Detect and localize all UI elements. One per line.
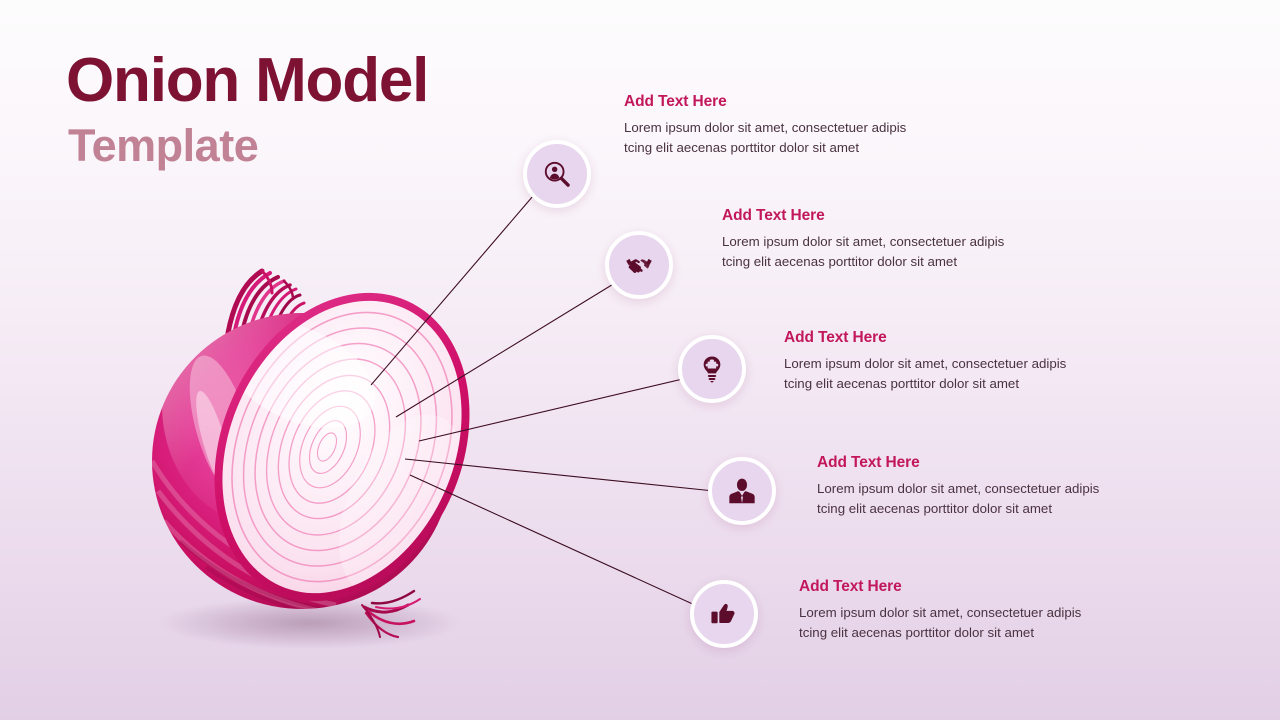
thumbs-up-icon	[709, 599, 739, 629]
item-body-line-1: Lorem ipsum dolor sit amet, consectetuer…	[784, 354, 1066, 374]
item-body-line-1: Lorem ipsum dolor sit amet, consectetuer…	[722, 232, 1004, 252]
item-heading: Add Text Here	[799, 578, 1081, 596]
badge-businessman[interactable]	[708, 457, 776, 525]
item-heading: Add Text Here	[722, 207, 1004, 225]
item-text-2: Add Text Here Lorem ipsum dolor sit amet…	[722, 207, 1004, 272]
onion-illustration	[150, 255, 500, 655]
badge-thumbs-up[interactable]	[690, 580, 758, 648]
user-search-icon	[542, 159, 572, 189]
item-heading: Add Text Here	[624, 93, 906, 111]
item-text-5: Add Text Here Lorem ipsum dolor sit amet…	[799, 578, 1081, 643]
item-body-line-2: tcing elit aecenas porttitor dolor sit a…	[722, 252, 1004, 272]
page-title: Onion Model	[66, 48, 428, 113]
item-text-4: Add Text Here Lorem ipsum dolor sit amet…	[817, 454, 1099, 519]
item-body-line-2: tcing elit aecenas porttitor dolor sit a…	[784, 374, 1066, 394]
item-body-line-2: tcing elit aecenas porttitor dolor sit a…	[799, 623, 1081, 643]
badge-user-search[interactable]	[523, 140, 591, 208]
title-block: Onion Model Template	[66, 48, 428, 171]
item-body-line-1: Lorem ipsum dolor sit amet, consectetuer…	[817, 479, 1099, 499]
item-body-line-2: tcing elit aecenas porttitor dolor sit a…	[624, 138, 906, 158]
businessman-icon	[727, 476, 757, 506]
slide-canvas: Onion Model Template	[0, 0, 1280, 720]
page-subtitle: Template	[68, 121, 428, 171]
item-text-3: Add Text Here Lorem ipsum dolor sit amet…	[784, 329, 1066, 394]
item-body-line-1: Lorem ipsum dolor sit amet, consectetuer…	[799, 603, 1081, 623]
item-heading: Add Text Here	[817, 454, 1099, 472]
badge-lightbulb-puzzle[interactable]	[678, 335, 746, 403]
badge-handshake[interactable]	[605, 231, 673, 299]
item-heading: Add Text Here	[784, 329, 1066, 347]
item-body-line-2: tcing elit aecenas porttitor dolor sit a…	[817, 499, 1099, 519]
item-body-line-1: Lorem ipsum dolor sit amet, consectetuer…	[624, 118, 906, 138]
item-text-1: Add Text Here Lorem ipsum dolor sit amet…	[624, 93, 906, 158]
lightbulb-puzzle-icon	[697, 354, 727, 384]
handshake-icon	[624, 250, 654, 280]
